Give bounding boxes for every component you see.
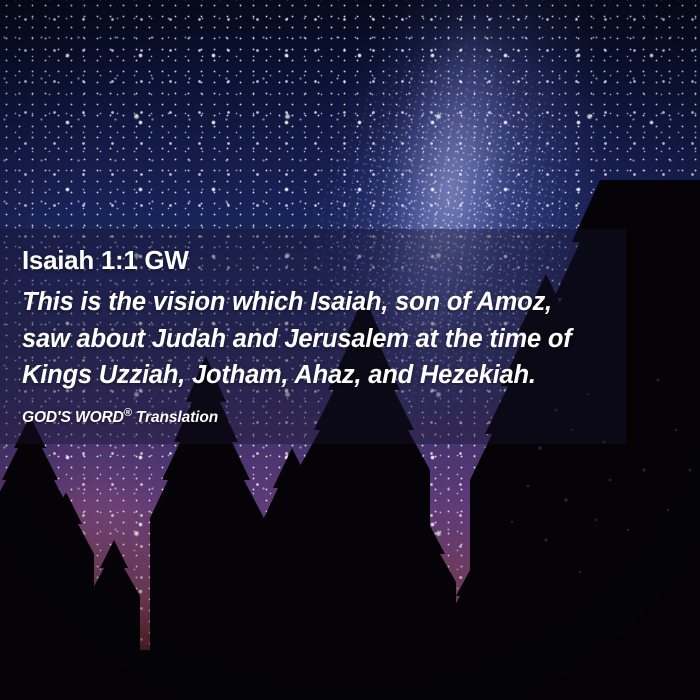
translation-attribution: GOD'S WORD® Translation (22, 407, 602, 427)
verse-image: Isaiah 1:1 GW This is the vision which I… (0, 0, 700, 700)
verse-reference: Isaiah 1:1 GW (22, 247, 602, 274)
registered-trademark-icon: ® (124, 407, 132, 419)
verse-text: This is the vision which Isaiah, son of … (22, 284, 602, 393)
verse-overlay-panel: Isaiah 1:1 GW This is the vision which I… (0, 229, 626, 444)
attribution-name: GOD'S WORD (22, 409, 124, 426)
attribution-suffix: Translation (132, 409, 218, 426)
